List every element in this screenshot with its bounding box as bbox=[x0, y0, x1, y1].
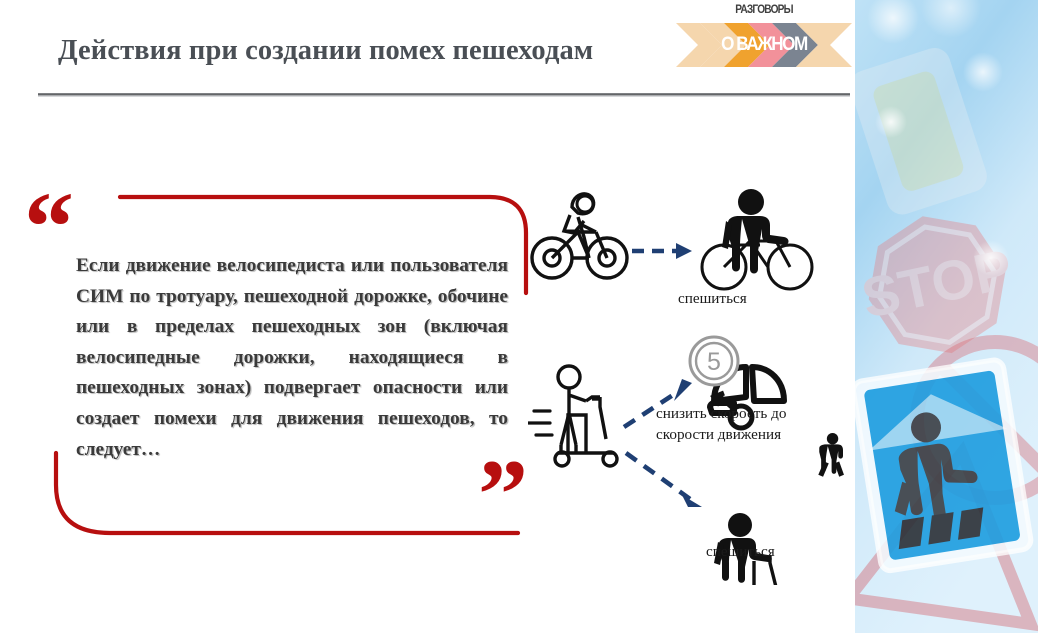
arrow-scooter-to-dismount bbox=[626, 453, 702, 507]
slide: Действия при создании помех пешеходам РА… bbox=[0, 0, 1038, 633]
cyclist-riding-icon bbox=[532, 194, 627, 278]
logo-chevron-bands bbox=[676, 23, 852, 67]
quote-text: Если движение велосипедиста или пользова… bbox=[76, 251, 508, 465]
title-divider bbox=[38, 93, 850, 97]
person-walking-bicycle-icon bbox=[702, 189, 812, 289]
scooter-rider-icon bbox=[528, 366, 617, 466]
caption-scooter-dismount: спешиться bbox=[706, 543, 775, 561]
speed-value-badge: 5 bbox=[690, 337, 738, 385]
arrow-cyclist-to-dismount bbox=[632, 243, 692, 259]
quote-open-mark: “ bbox=[24, 177, 74, 277]
road-signs-artwork: STOP bbox=[855, 0, 1038, 633]
cyclist-row-graphic bbox=[528, 185, 858, 305]
speed-value-text: 5 bbox=[707, 348, 721, 376]
page-title: Действия при создании помех пешеходам bbox=[58, 33, 678, 69]
caption-reduce-speed: снизить скорость до скорости движения bbox=[656, 403, 824, 445]
quote-block: “ ” Если движение велосипедиста или поль… bbox=[20, 185, 550, 545]
logo-top-label: РАЗГОВОРЫ bbox=[687, 4, 842, 16]
pedestrian-crossing-sign bbox=[855, 359, 1032, 572]
logo-razgovory-o-vazhnom: РАЗГОВОРЫ О ВАЖНОМ bbox=[676, 4, 852, 80]
caption-cyclist-dismount: спешиться bbox=[678, 290, 747, 308]
action-diagram: спешиться bbox=[528, 185, 858, 585]
decorative-road-signs-panel: STOP bbox=[855, 0, 1038, 633]
scooter-row-graphic: 5 bbox=[528, 335, 858, 585]
